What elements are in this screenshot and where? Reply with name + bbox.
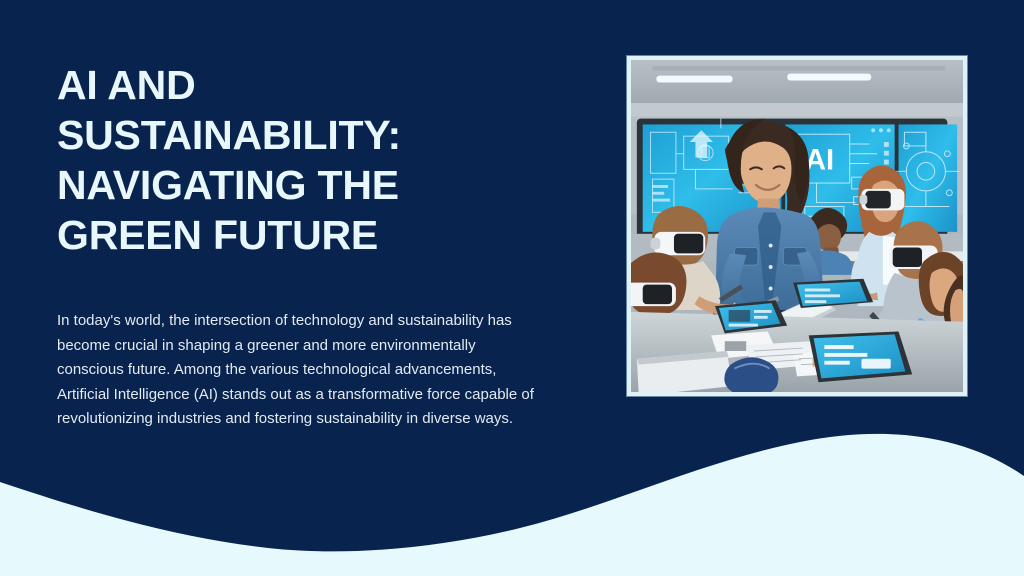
tablet-right <box>809 331 913 382</box>
page-title: AI AND SUSTAINABILITY: NAVIGATING THE GR… <box>57 60 557 260</box>
classroom-photo: AI <box>631 60 963 392</box>
photo-frame: AI <box>627 56 967 396</box>
vr-headset-right-lens <box>865 191 890 209</box>
ceiling-light-right <box>787 74 871 81</box>
body-paragraph: In today's world, the intersection of te… <box>57 309 540 432</box>
classroom-photo-illustration: AI <box>631 60 963 392</box>
presentation-slide: AI AND SUSTAINABILITY: NAVIGATING THE GR… <box>0 0 1024 576</box>
ceiling-light-left <box>656 76 732 83</box>
vr-headset-left-lens <box>674 234 703 254</box>
slide-text-column: AI AND SUSTAINABILITY: NAVIGATING THE GR… <box>57 60 557 432</box>
